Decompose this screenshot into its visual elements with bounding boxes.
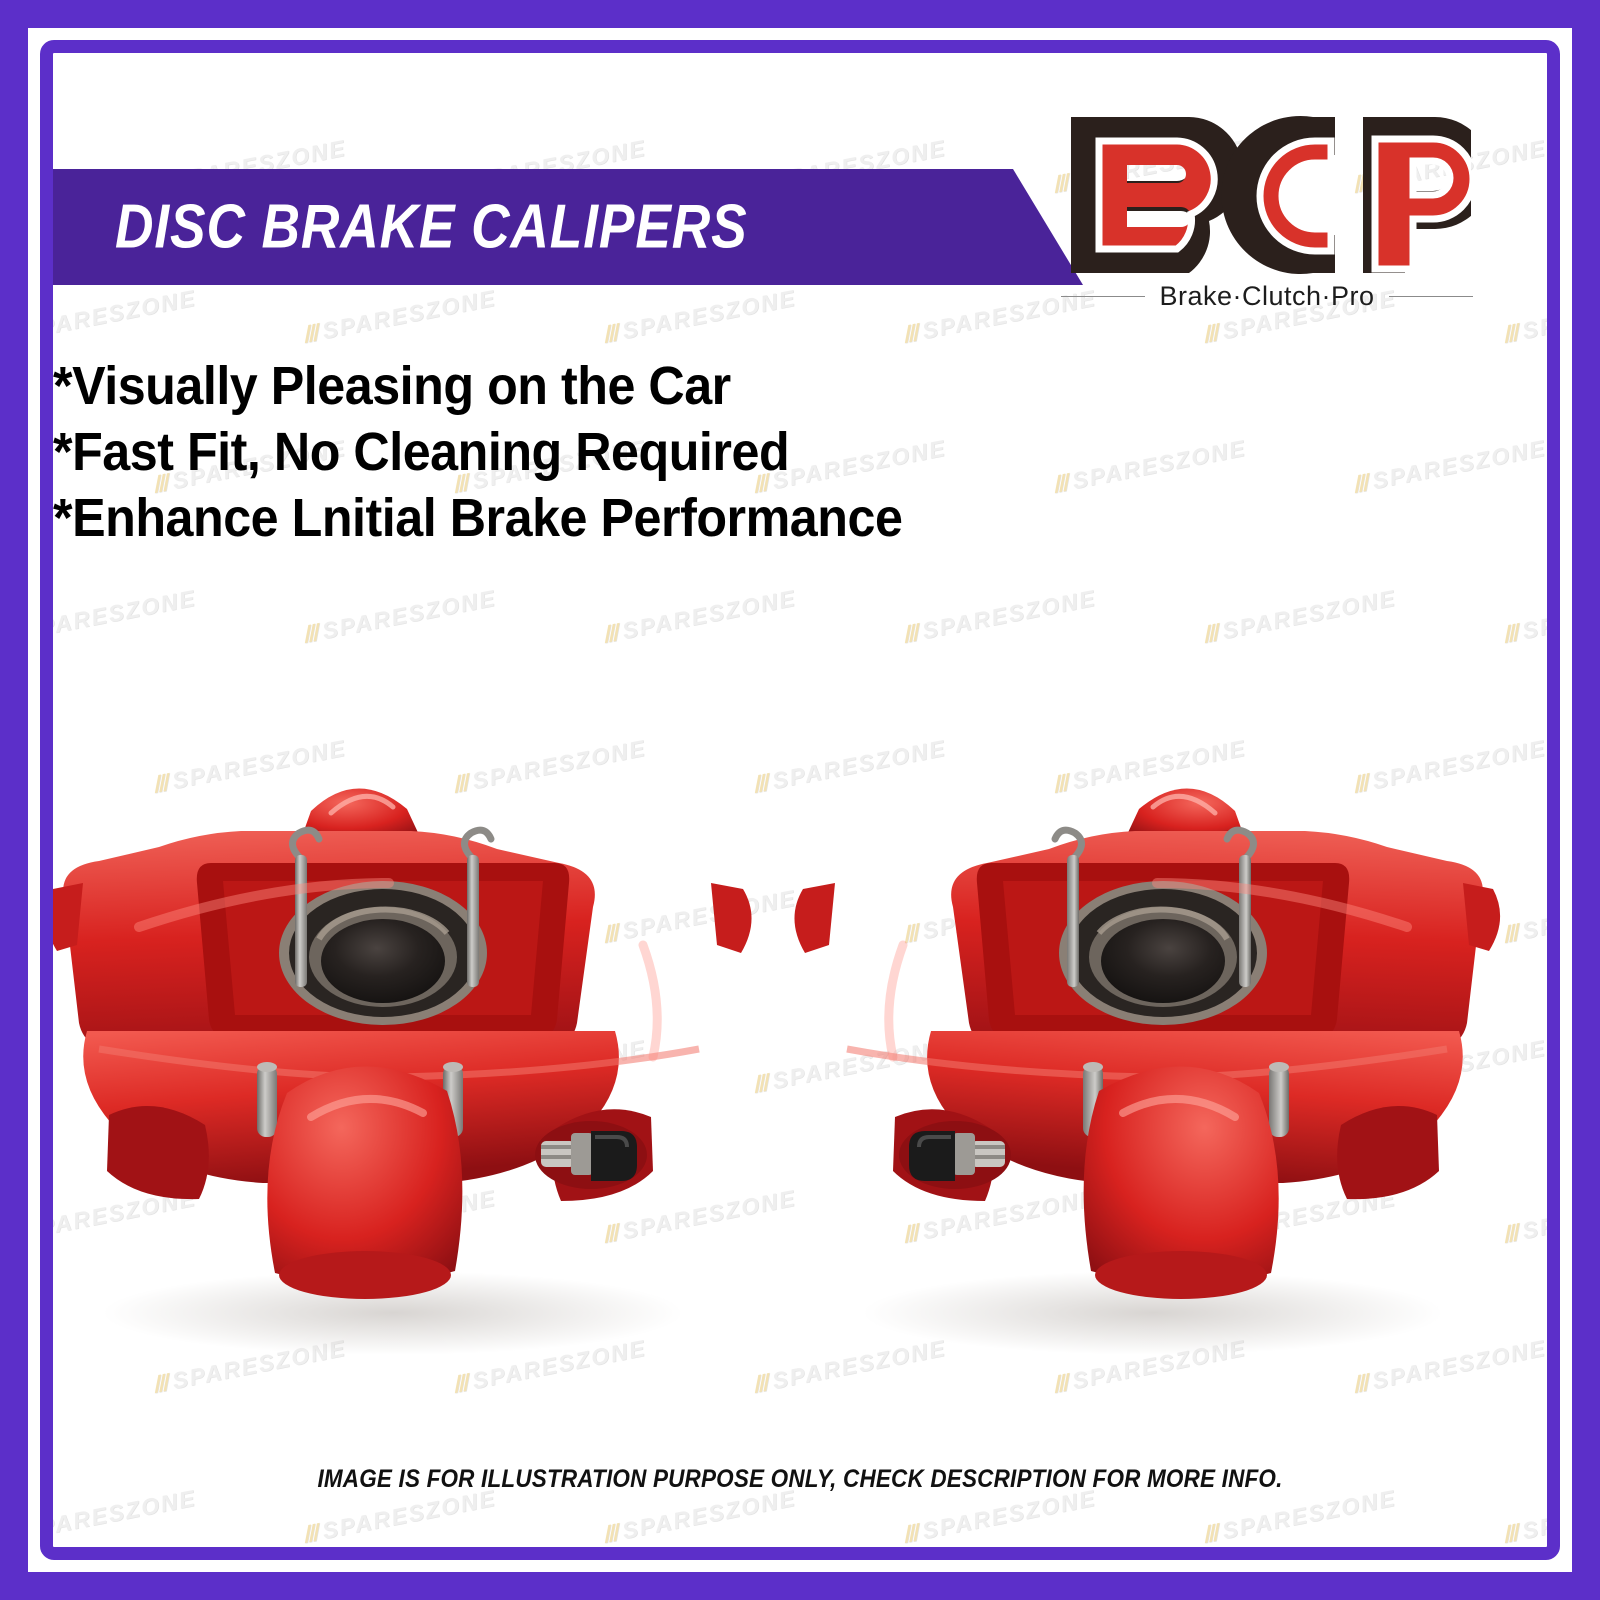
- feature-list: *Visually Pleasing on the Car *Fast Fit,…: [53, 353, 1153, 551]
- tagline-rule-right: [1389, 296, 1473, 297]
- logo-tagline-row: Brake·Clutch·Pro: [1057, 281, 1477, 312]
- tagline-rule-left: [1061, 296, 1145, 297]
- illustration-disclaimer: IMAGE IS FOR ILLUSTRATION PURPOSE ONLY, …: [128, 1465, 1473, 1494]
- bcp-logo-icon: [1063, 111, 1471, 279]
- caliper-cavity-left: [107, 1106, 209, 1199]
- page-title: DISC BRAKE CALIPERS: [115, 192, 748, 263]
- logo-tagline: Brake·Clutch·Pro: [1159, 281, 1374, 312]
- product-photo: [53, 713, 1547, 1393]
- feature-item-3: *Enhance Lnitial Brake Performance: [53, 485, 1076, 551]
- watermark-text: ///SPARESZONE: [302, 1485, 499, 1547]
- feature-item-2: *Fast Fit, No Cleaning Required: [53, 419, 1076, 485]
- watermark-text: ///SPARESZONE: [1502, 285, 1547, 349]
- slide-pin-1: [1269, 1062, 1289, 1137]
- piston-bore: [1059, 881, 1267, 1025]
- caliper-lug-right: [711, 883, 752, 953]
- watermark-text: ///SPARESZONE: [1202, 585, 1399, 649]
- piston-bore: [279, 881, 487, 1025]
- watermark-text: ///SPARESZONE: [602, 1485, 799, 1547]
- product-image-canvas: ///SPARESZONE///SPARESZONE///SPARESZONE/…: [0, 0, 1600, 1600]
- watermark-text: ///SPARESZONE: [1202, 1485, 1399, 1547]
- watermark-text: ///SPARESZONE: [1352, 435, 1547, 499]
- watermark-text: ///SPARESZONE: [602, 285, 799, 349]
- caliper-lug-right: [794, 883, 835, 953]
- brand-logo: Brake·Clutch·Pro: [1057, 111, 1477, 312]
- brake-caliper-left: [53, 713, 763, 1393]
- bleeder-screw: [535, 1121, 647, 1189]
- watermark-text: ///SPARESZONE: [1502, 1485, 1547, 1547]
- bleeder-screw: [899, 1121, 1011, 1189]
- title-banner: DISC BRAKE CALIPERS: [53, 169, 1083, 285]
- watermark-text: ///SPARESZONE: [902, 585, 1099, 649]
- content-area: ///SPARESZONE///SPARESZONE///SPARESZONE/…: [53, 53, 1547, 1547]
- slide-pin-1: [257, 1062, 277, 1137]
- watermark-text: ///SPARESZONE: [602, 585, 799, 649]
- feature-item-1: *Visually Pleasing on the Car: [53, 353, 1076, 419]
- watermark-text: ///SPARESZONE: [1502, 585, 1547, 649]
- watermark-text: ///SPARESZONE: [902, 1485, 1099, 1547]
- watermark-text: ///SPARESZONE: [53, 1485, 199, 1547]
- caliper-cavity-left: [1337, 1106, 1439, 1199]
- brake-caliper-right: [783, 713, 1503, 1393]
- watermark-text: ///SPARESZONE: [53, 585, 199, 649]
- watermark-text: ///SPARESZONE: [53, 285, 199, 349]
- watermark-text: ///SPARESZONE: [302, 585, 499, 649]
- watermark-text: ///SPARESZONE: [302, 285, 499, 349]
